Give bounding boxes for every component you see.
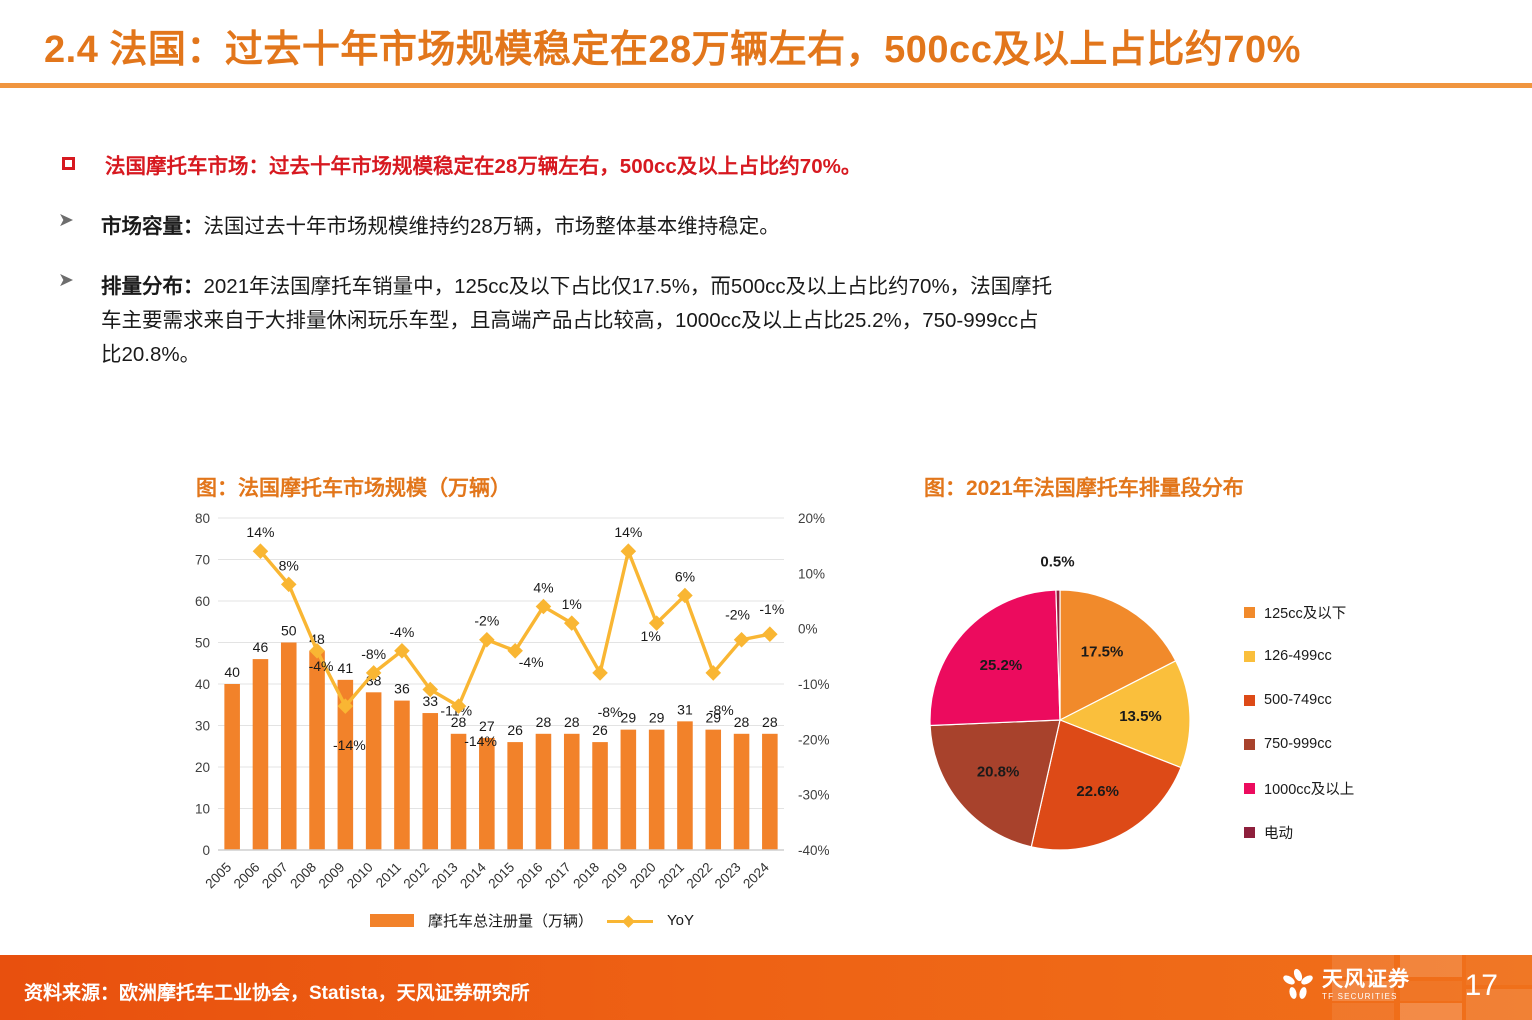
bar-value-label: 28 [564, 714, 580, 730]
square-bullet-icon [62, 157, 75, 170]
legend-line-swatch [607, 914, 653, 928]
y-axis-tick: 20 [195, 760, 210, 775]
pie-legend-item[interactable]: 电动 [1244, 810, 1354, 854]
x-axis-tick: 2017 [542, 860, 574, 892]
arrow-bullet-icon: ➤ [58, 211, 76, 230]
legend-label: 电动 [1264, 822, 1293, 843]
yoy-value-label: -4% [389, 624, 414, 640]
yoy-value-label: -4% [309, 658, 334, 674]
displacement-pie-chart: 17.5%13.5%22.6%20.8%25.2%0.5% [900, 530, 1480, 890]
bar-value-label: 28 [762, 714, 778, 730]
bar-chart-title: 图：法国摩托车市场规模（万辆） [196, 472, 511, 502]
y-axis-tick: 0 [202, 843, 210, 858]
yoy-value-label: 14% [246, 524, 274, 540]
pie-chart-svg: 17.5%13.5%22.6%20.8%25.2%0.5% [900, 530, 1280, 870]
pie-chart-title: 图：2021年法国摩托车排量段分布 [924, 472, 1244, 502]
pie-value-label: 20.8% [977, 764, 1020, 781]
legend-color-swatch [1244, 783, 1255, 794]
y2-axis-tick: -40% [798, 843, 830, 858]
bar [762, 734, 778, 850]
legend-label: 126-499cc [1264, 648, 1332, 664]
x-axis-tick: 2012 [401, 860, 433, 892]
yoy-value-label: -2% [725, 607, 750, 623]
y-axis-tick: 80 [195, 511, 210, 526]
bar [479, 738, 495, 850]
bar-value-label: 29 [621, 710, 637, 726]
yoy-marker [564, 615, 580, 631]
x-axis-tick: 2007 [259, 860, 291, 892]
bar [253, 659, 269, 850]
y-axis-tick: 60 [195, 594, 210, 609]
bar [366, 692, 382, 850]
legend-bar-label: 摩托车总注册量（万辆） [428, 910, 593, 931]
x-axis-tick: 2021 [655, 860, 687, 892]
legend-line-label: YoY [667, 912, 694, 929]
x-axis-tick: 2010 [344, 860, 376, 892]
y-axis-tick: 50 [195, 636, 210, 651]
bar-value-label: 46 [253, 639, 269, 655]
x-axis-tick: 2015 [485, 860, 517, 892]
bar-value-label: 40 [224, 664, 240, 680]
title-divider [0, 83, 1532, 88]
bar-value-label: 26 [507, 722, 523, 738]
bar-value-label: 26 [592, 722, 608, 738]
legend-label: 500-749cc [1264, 692, 1332, 708]
x-axis-tick: 2023 [712, 860, 744, 892]
x-axis-tick: 2019 [599, 860, 631, 892]
legend-label: 750-999cc [1264, 736, 1332, 752]
pie-value-label: 25.2% [980, 657, 1023, 674]
bullet-text-2: 排量分布：2021年法国摩托车销量中，125cc及以下占比仅17.5%，而500… [101, 270, 1056, 372]
x-axis-tick: 2008 [287, 860, 319, 892]
bullet-lead-0: 法国摩托车市场： [105, 155, 269, 178]
pie-value-label: 0.5% [1040, 553, 1074, 570]
yoy-value-label: -2% [474, 613, 499, 629]
bar-value-label: 28 [734, 714, 750, 730]
legend-color-swatch [1244, 695, 1255, 706]
y2-axis-tick: 20% [798, 511, 825, 526]
bar [649, 730, 665, 850]
legend-color-swatch [1244, 651, 1255, 662]
y2-axis-tick: 10% [798, 566, 825, 581]
x-axis-tick: 2024 [740, 859, 772, 891]
y2-axis-tick: -30% [798, 788, 830, 803]
pie-legend-item[interactable]: 125cc及以下 [1244, 590, 1354, 634]
market-size-chart: 01020304050607080-40%-30%-20%-10%0%10%20… [176, 508, 856, 938]
pie-legend: 125cc及以下126-499cc500-749cc750-999cc1000c… [1244, 590, 1354, 854]
yoy-marker [621, 543, 637, 559]
bar [734, 734, 750, 850]
x-axis-tick: 2014 [457, 859, 489, 891]
bar [451, 734, 467, 850]
bar-value-label: 50 [281, 623, 297, 639]
x-axis-tick: 2006 [231, 860, 263, 892]
pie-value-label: 13.5% [1119, 708, 1162, 725]
logo-name-en: TF SECURITIES [1322, 993, 1410, 1001]
bar [564, 734, 580, 850]
y-axis-tick: 40 [195, 677, 210, 692]
page-title: 2.4 法国：过去十年市场规模稳定在28万辆左右，500cc及以上占比约70% [44, 18, 1301, 73]
x-axis-tick: 2005 [202, 860, 234, 892]
bar [224, 684, 240, 850]
yoy-value-label: -8% [361, 646, 386, 662]
x-axis-tick: 2009 [316, 860, 348, 892]
x-axis-tick: 2011 [373, 860, 404, 891]
yoy-value-label: 1% [562, 596, 582, 612]
pie-legend-item[interactable]: 126-499cc [1244, 634, 1354, 678]
bar [592, 742, 608, 850]
footer-bar: 资料来源：欧洲摩托车工业协会，Statista，天风证券研究所 [0, 955, 1532, 1020]
bar [677, 721, 693, 850]
yoy-marker [592, 665, 608, 681]
bar [621, 730, 637, 850]
legend-color-swatch [1244, 607, 1255, 618]
bar-value-label: 29 [649, 710, 665, 726]
logo-name-cn: 天风证券 [1322, 969, 1410, 990]
yoy-marker [762, 626, 778, 642]
yoy-value-label: 14% [614, 524, 642, 540]
yoy-value-label: 1% [641, 628, 661, 644]
yoy-value-label: -14% [464, 733, 497, 749]
bar-value-label: 36 [394, 681, 410, 697]
bar-value-label: 41 [338, 660, 354, 676]
x-axis-tick: 2016 [514, 860, 546, 892]
bullet-text-1: 市场容量：法国过去十年市场规模维持约28万辆，市场整体基本维持稳定。 [101, 210, 780, 244]
bar [536, 734, 552, 850]
bar [507, 742, 523, 850]
y2-axis-tick: -10% [798, 677, 830, 692]
page-number: 17 [1465, 969, 1498, 1003]
yoy-value-label: -8% [709, 702, 734, 718]
yoy-value-label: 8% [279, 557, 299, 573]
tf-flower-icon [1281, 968, 1315, 1002]
bullet-body-1: 法国过去十年市场规模维持约28万辆，市场整体基本维持稳定。 [204, 215, 780, 238]
bar-value-label: 31 [677, 701, 693, 717]
yoy-value-label: -8% [598, 704, 623, 720]
bar [422, 713, 438, 850]
pie-value-label: 17.5% [1081, 643, 1124, 660]
bullet-item-2: ➤ 排量分布：2021年法国摩托车销量中，125cc及以下占比仅17.5%，而5… [56, 270, 1056, 372]
bullet-lead-2: 排量分布： [101, 275, 204, 298]
bullet-body-0: 过去十年市场规模稳定在28万辆左右，500cc及以上占比约70%。 [269, 155, 861, 178]
arrow-bullet-icon: ➤ [58, 271, 76, 290]
bullet-item-0: 法国摩托车市场：过去十年市场规模稳定在28万辆左右，500cc及以上占比约70%… [56, 150, 1056, 184]
yoy-value-label: -1% [759, 601, 784, 617]
x-axis-tick: 2013 [429, 860, 461, 892]
x-axis-tick: 2018 [570, 860, 602, 892]
x-axis-tick: 2020 [627, 860, 659, 892]
bullet-item-1: ➤ 市场容量：法国过去十年市场规模维持约28万辆，市场整体基本维持稳定。 [56, 210, 1056, 244]
source-note: 资料来源：欧洲摩托车工业协会，Statista，天风证券研究所 [24, 978, 530, 1005]
bullet-lead-1: 市场容量： [101, 215, 204, 238]
legend-color-swatch [1244, 827, 1255, 838]
bar [309, 651, 325, 850]
legend-label: 125cc及以下 [1264, 602, 1346, 623]
bar-value-label: 28 [536, 714, 552, 730]
bullet-text-0: 法国摩托车市场：过去十年市场规模稳定在28万辆左右，500cc及以上占比约70%… [105, 150, 861, 184]
bar-value-label: 27 [479, 718, 495, 734]
y-axis-tick: 70 [195, 553, 210, 568]
bar-chart-svg: 01020304050607080-40%-30%-20%-10%0%10%20… [176, 508, 856, 938]
yoy-value-label: -14% [333, 737, 366, 753]
yoy-value-label: 4% [533, 580, 553, 596]
bar [394, 701, 410, 850]
pie-legend-item[interactable]: 500-749cc [1244, 678, 1354, 722]
yoy-value-label: -4% [519, 654, 544, 670]
bullet-body-2: 2021年法国摩托车销量中，125cc及以下占比仅17.5%，而500cc及以上… [101, 275, 1052, 366]
pie-legend-item[interactable]: 1000cc及以上 [1244, 766, 1354, 810]
y2-axis-tick: -20% [798, 732, 830, 747]
company-logo: 天风证券 TF SECURITIES [1281, 968, 1410, 1002]
slide: 2.4 法国：过去十年市场规模稳定在28万辆左右，500cc及以上占比约70% … [0, 0, 1532, 1020]
bar-chart-legend: 摩托车总注册量（万辆） YoY [370, 910, 694, 931]
bullet-list: 法国摩托车市场：过去十年市场规模稳定在28万辆左右，500cc及以上占比约70%… [56, 150, 1056, 398]
y-axis-tick: 10 [195, 802, 210, 817]
bar [281, 643, 297, 851]
legend-label: 1000cc及以上 [1264, 778, 1354, 799]
y-axis-tick: 30 [195, 719, 210, 734]
yoy-marker [479, 632, 495, 648]
legend-color-swatch [1244, 739, 1255, 750]
pie-value-label: 22.6% [1076, 783, 1119, 800]
yoy-value-label: 6% [675, 568, 695, 584]
x-axis-tick: 2022 [684, 860, 716, 892]
pie-legend-item[interactable]: 750-999cc [1244, 722, 1354, 766]
bar [705, 730, 721, 850]
legend-bar-swatch [370, 914, 414, 927]
y2-axis-tick: 0% [798, 622, 818, 637]
